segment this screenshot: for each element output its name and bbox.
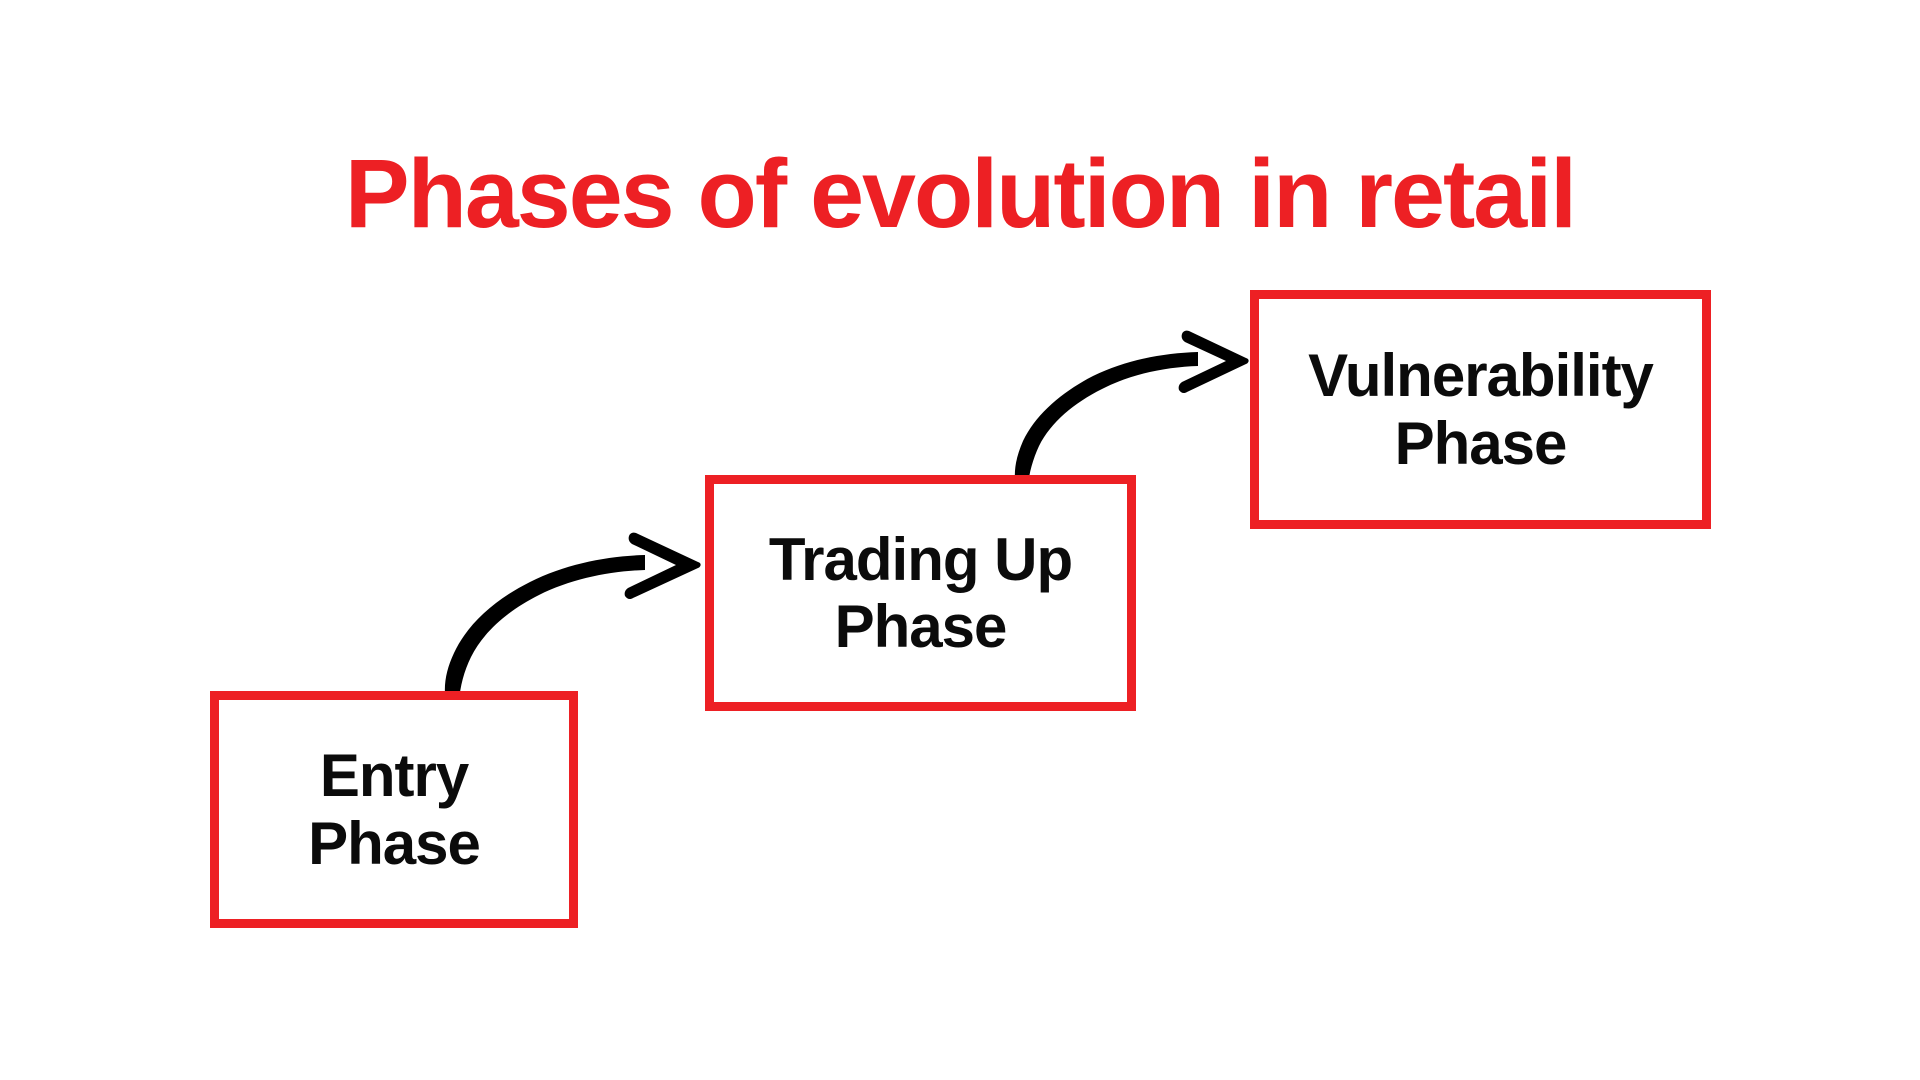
- phase-box-vulnerability[interactable]: Vulnerability Phase: [1250, 290, 1711, 529]
- phase-box-entry[interactable]: Entry Phase: [210, 691, 578, 928]
- phase-box-trading-up-label: Trading Up Phase: [759, 526, 1082, 660]
- page-title: Phases of evolution in retail: [0, 143, 1920, 245]
- phase-box-entry-label: Entry Phase: [298, 742, 490, 876]
- phase-box-vulnerability-label: Vulnerability Phase: [1298, 342, 1663, 476]
- slide-canvas: Phases of evolution in retail Entry Phas…: [0, 0, 1920, 1080]
- arrow-trading-up-to-vulnerability-icon: [1010, 320, 1275, 490]
- phase-box-trading-up[interactable]: Trading Up Phase: [705, 475, 1136, 711]
- arrow-entry-to-trading-up-icon: [440, 520, 730, 705]
